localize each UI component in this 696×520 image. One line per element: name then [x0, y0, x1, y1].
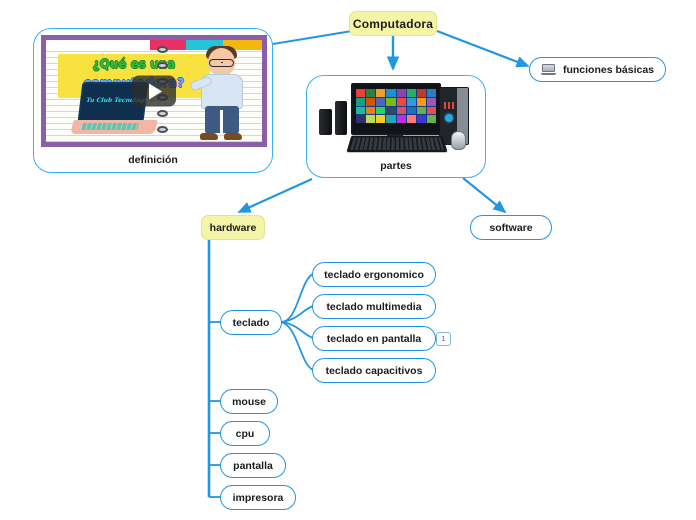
node-software-label: software	[489, 222, 532, 234]
node-teclado[interactable]: teclado	[220, 310, 282, 335]
node-teclado-en-pantalla[interactable]: teclado en pantalla	[312, 326, 436, 351]
node-definicion[interactable]: ¿Qué es una computadora? Tu Club Tecnoló…	[33, 28, 273, 173]
node-teclado-capacitivos[interactable]: teclado capacitivos	[312, 358, 436, 383]
node-funciones-basicas[interactable]: funciones básicas	[529, 57, 666, 82]
desktop-computer-image	[313, 81, 481, 153]
node-funciones-basicas-label: funciones básicas	[563, 64, 654, 76]
computer-monitor-icon	[541, 64, 556, 75]
connector-partes-hardware	[239, 179, 312, 212]
connector-teclado-multimedia	[281, 306, 313, 322]
node-teclado-en-pantalla-label: teclado en pantalla	[327, 333, 422, 345]
presenter-character	[194, 48, 252, 140]
note-count-badge-label: 1	[442, 336, 446, 343]
thumbnail-title-line1: ¿Qué es una	[58, 57, 210, 71]
node-software[interactable]: software	[470, 215, 552, 240]
node-pantalla-label: pantalla	[233, 460, 273, 472]
node-hardware[interactable]: hardware	[201, 215, 265, 240]
node-cpu[interactable]: cpu	[220, 421, 270, 446]
node-cpu-label: cpu	[236, 428, 255, 440]
node-teclado-multimedia[interactable]: teclado multimedia	[312, 294, 436, 319]
node-teclado-multimedia-label: teclado multimedia	[326, 301, 421, 313]
node-teclado-ergonomico-label: teclado ergonomico	[324, 269, 424, 281]
node-partes[interactable]: partes	[306, 75, 486, 178]
node-impresora[interactable]: impresora	[220, 485, 296, 510]
mindmap-canvas: Computadora ¿Qué es una computadora? Tu …	[0, 0, 696, 520]
connector-teclado-en-pantalla	[281, 322, 313, 338]
node-partes-label: partes	[313, 153, 479, 172]
node-hardware-label: hardware	[210, 222, 257, 234]
node-teclado-capacitivos-label: teclado capacitivos	[326, 365, 423, 377]
node-mouse-label: mouse	[232, 396, 266, 408]
note-count-badge[interactable]: 1	[436, 332, 451, 346]
connector-partes-software	[463, 178, 505, 212]
connector-teclado-capacitivos	[281, 322, 313, 370]
node-computadora[interactable]: Computadora	[349, 11, 437, 36]
node-mouse[interactable]: mouse	[220, 389, 278, 414]
connector-teclado-ergonomico	[281, 274, 313, 322]
node-definicion-label: definición	[41, 147, 265, 166]
node-teclado-label: teclado	[233, 317, 270, 329]
node-impresora-label: impresora	[233, 492, 284, 504]
video-thumbnail[interactable]: ¿Qué es una computadora? Tu Club Tecnoló…	[41, 35, 267, 147]
play-icon[interactable]	[132, 76, 176, 107]
node-pantalla[interactable]: pantalla	[220, 453, 286, 478]
connector-root-funciones	[437, 31, 528, 66]
node-computadora-label: Computadora	[353, 17, 433, 31]
node-teclado-ergonomico[interactable]: teclado ergonomico	[312, 262, 436, 287]
